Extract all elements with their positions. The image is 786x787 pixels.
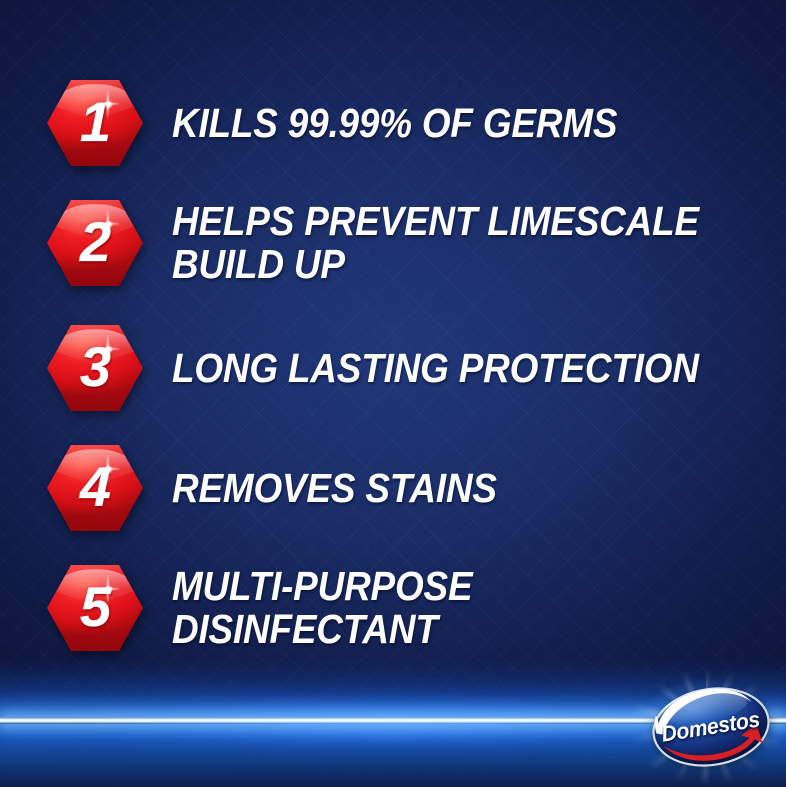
benefit-row-5: 5 MULTI-PURPOSE DISINFECTANT [0,565,786,651]
benefit-row-4: 4 REMOVES STAINS [0,445,786,531]
badge-number-1: 1 [47,80,143,166]
badge-number-label: 1 [47,79,143,165]
benefit-row-3: 3 LONG LASTING PROTECTION [0,325,786,411]
logo-wordmark-text: Domestos [660,706,762,747]
badge-number-2: 2 [47,200,143,286]
badge-number-label: 5 [47,564,143,650]
benefit-text-1: KILLS 99.99% OF GERMS [172,102,617,145]
benefit-row-1: 1 KILLS 99.99% OF GERMS [0,80,786,166]
badge-number-4: 4 [47,445,143,531]
domestos-logo: Domestos [628,666,786,787]
badge-number-label: 4 [47,444,143,530]
benefit-text-2: HELPS PREVENT LIMESCALE BUILD UP [172,200,699,285]
benefit-text-4: REMOVES STAINS [172,467,497,510]
benefit-row-2: 2 HELPS PREVENT LIMESCALE BUILD UP [0,200,786,286]
benefit-text-5: MULTI-PURPOSE DISINFECTANT [172,565,725,650]
promo-canvas: 1 KILLS 99.99% OF GERMS 2 HELPS PREVENT … [0,0,786,787]
badge-number-5: 5 [47,565,143,651]
badge-number-label: 2 [47,199,143,285]
benefit-text-3: LONG LASTING PROTECTION [172,347,699,390]
badge-number-3: 3 [47,325,143,411]
badge-number-label: 3 [47,324,143,410]
